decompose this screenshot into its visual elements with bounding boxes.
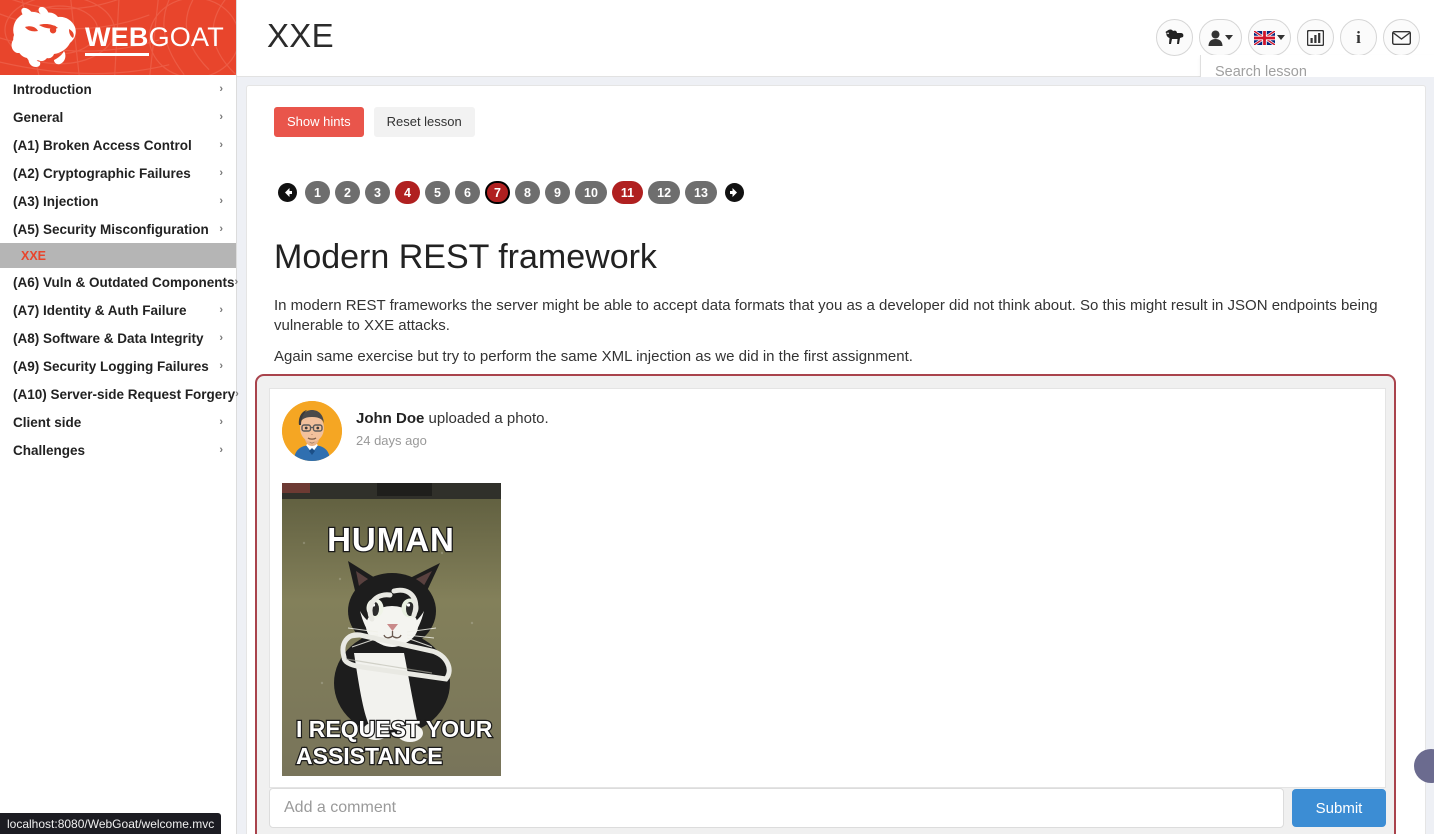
sidebar-item-label: (A5) Security Misconfiguration <box>13 222 219 237</box>
pagination-page-6[interactable]: 6 <box>455 181 480 204</box>
header-toolbar: i <box>1156 19 1420 56</box>
goat-icon-button[interactable] <box>1156 19 1193 56</box>
brand-goat: GOAT <box>149 22 224 52</box>
brand-header[interactable]: WEBGOAT <box>0 0 236 75</box>
sidebar-item-challenges[interactable]: Challenges› <box>0 436 236 464</box>
pagination-prev-button[interactable] <box>278 183 297 202</box>
sidebar-item-a9-security-logging-failures[interactable]: (A9) Security Logging Failures› <box>0 352 236 380</box>
lesson-pagination: 12345678910111213 <box>275 181 747 204</box>
flag-uk-icon <box>1254 31 1275 45</box>
chevron-right-icon: › <box>219 224 223 235</box>
lesson-content-card: Show hints Reset lesson 1234567891011121… <box>246 85 1426 834</box>
lesson-paragraph-2: Again same exercise but try to perform t… <box>274 347 1409 367</box>
comment-row: Submit <box>269 784 1386 832</box>
assignment-card: John Doe uploaded a photo. 24 days ago <box>255 374 1396 834</box>
arrow-left-icon <box>282 187 293 198</box>
main-content: Show hints Reset lesson 1234567891011121… <box>237 77 1434 834</box>
info-button[interactable]: i <box>1340 19 1377 56</box>
post-author: John Doe <box>356 410 424 427</box>
info-icon: i <box>1356 28 1361 48</box>
user-icon <box>1208 30 1223 46</box>
user-avatar-icon <box>282 401 342 461</box>
pagination-page-9[interactable]: 9 <box>545 181 570 204</box>
brand-web: WEB <box>85 22 149 56</box>
language-flag-button[interactable] <box>1248 19 1291 56</box>
status-bar-url: localhost:8080/WebGoat/welcome.mvc <box>7 817 214 831</box>
sidebar-item-label: (A9) Security Logging Failures <box>13 359 219 374</box>
arrow-right-icon <box>729 187 740 198</box>
sidebar-item-a8-software-data-integrity[interactable]: (A8) Software & Data Integrity› <box>0 324 236 352</box>
chevron-down-icon <box>1277 35 1285 40</box>
report-chart-button[interactable] <box>1297 19 1334 56</box>
sidebar-item-label: Challenges <box>13 443 219 458</box>
pagination-page-5[interactable]: 5 <box>425 181 450 204</box>
sidebar-item-label: Client side <box>13 415 219 430</box>
pagination-page-13[interactable]: 13 <box>685 181 717 204</box>
chevron-right-icon: › <box>219 445 223 456</box>
sidebar-item-a1-broken-access-control[interactable]: (A1) Broken Access Control› <box>0 131 236 159</box>
messages-button[interactable] <box>1383 19 1420 56</box>
sidebar: WEBGOAT Introduction›General›(A1) Broken… <box>0 0 237 834</box>
sidebar-item-xxe[interactable]: XXE <box>0 243 236 268</box>
post-meta: John Doe uploaded a photo. 24 days ago <box>356 401 549 448</box>
sidebar-item-label: XXE <box>21 249 223 263</box>
page-title: XXE <box>267 17 334 55</box>
chevron-right-icon: › <box>219 168 223 179</box>
chart-icon <box>1307 30 1324 46</box>
comment-input[interactable] <box>269 788 1284 828</box>
submit-button[interactable]: Submit <box>1292 789 1386 827</box>
goat-icon <box>1164 29 1185 46</box>
pagination-page-10[interactable]: 10 <box>575 181 607 204</box>
app-root: WEBGOAT Introduction›General›(A1) Broken… <box>0 0 1434 834</box>
sidebar-item-a7-identity-auth-failure[interactable]: (A7) Identity & Auth Failure› <box>0 296 236 324</box>
meme-bottom-text-2: ASSISTANCE <box>296 743 443 769</box>
pagination-page-1[interactable]: 1 <box>305 181 330 204</box>
chevron-right-icon: › <box>219 361 223 372</box>
sidebar-item-a2-cryptographic-failures[interactable]: (A2) Cryptographic Failures› <box>0 159 236 187</box>
pagination-page-3[interactable]: 3 <box>365 181 390 204</box>
sidebar-nav: Introduction›General›(A1) Broken Access … <box>0 75 236 464</box>
avatar <box>282 401 342 461</box>
goat-head-icon <box>9 7 81 69</box>
user-icon-button[interactable] <box>1199 19 1242 56</box>
sidebar-item-label: Introduction <box>13 82 219 97</box>
envelope-icon <box>1392 31 1411 45</box>
chevron-down-icon <box>1225 35 1233 40</box>
post-panel: John Doe uploaded a photo. 24 days ago <box>269 388 1386 788</box>
sidebar-item-label: (A10) Server-side Request Forgery <box>13 387 235 402</box>
sidebar-item-a5-security-misconfiguration[interactable]: (A5) Security Misconfiguration› <box>0 215 236 243</box>
chevron-right-icon: › <box>219 417 223 428</box>
lesson-title: Modern REST framework <box>274 238 657 277</box>
sidebar-item-client-side[interactable]: Client side› <box>0 408 236 436</box>
chevron-right-icon: › <box>219 333 223 344</box>
pagination-next-button[interactable] <box>725 183 744 202</box>
brand-text: WEBGOAT <box>85 22 224 53</box>
pagination-page-12[interactable]: 12 <box>648 181 680 204</box>
pagination-page-8[interactable]: 8 <box>515 181 540 204</box>
status-bar: localhost:8080/WebGoat/welcome.mvc <box>0 813 221 834</box>
chevron-right-icon: › <box>219 305 223 316</box>
chevron-right-icon: › <box>235 277 239 288</box>
chevron-right-icon: › <box>219 196 223 207</box>
show-hints-button[interactable]: Show hints <box>274 107 364 137</box>
post-timestamp: 24 days ago <box>356 433 549 448</box>
pagination-pills: 12345678910111213 <box>305 181 717 204</box>
pagination-page-4[interactable]: 4 <box>395 181 420 204</box>
pagination-page-2[interactable]: 2 <box>335 181 360 204</box>
post-action: uploaded a photo. <box>424 410 548 427</box>
reset-lesson-button[interactable]: Reset lesson <box>374 107 475 137</box>
chevron-right-icon: › <box>219 84 223 95</box>
sidebar-item-introduction[interactable]: Introduction› <box>0 75 236 103</box>
sidebar-item-label: (A6) Vuln & Outdated Components <box>13 275 235 290</box>
chevron-right-icon: › <box>235 389 239 400</box>
post-header: John Doe uploaded a photo. 24 days ago <box>282 401 549 461</box>
sidebar-item-general[interactable]: General› <box>0 103 236 131</box>
sidebar-item-a3-injection[interactable]: (A3) Injection› <box>0 187 236 215</box>
meme-top-text: HUMAN <box>327 521 455 558</box>
sidebar-item-a6-vuln-outdated-components[interactable]: (A6) Vuln & Outdated Components› <box>0 268 236 296</box>
lesson-controls: Show hints Reset lesson <box>274 107 475 137</box>
sidebar-item-label: (A3) Injection <box>13 194 219 209</box>
meme-bottom-text-1: I REQUEST YOUR <box>296 716 493 742</box>
sidebar-item-label: (A7) Identity & Auth Failure <box>13 303 219 318</box>
top-header: XXE <box>237 0 1434 77</box>
cat-meme-graphic: HUMAN I REQUEST YOUR ASSISTANCE <box>282 483 501 776</box>
lesson-paragraph-1: In modern REST frameworks the server mig… <box>274 296 1409 336</box>
sidebar-item-label: (A2) Cryptographic Failures <box>13 166 219 181</box>
chevron-right-icon: › <box>219 140 223 151</box>
pagination-page-7[interactable]: 7 <box>485 181 510 204</box>
sidebar-item-label: (A8) Software & Data Integrity <box>13 331 219 346</box>
sidebar-item-label: (A1) Broken Access Control <box>13 138 219 153</box>
pagination-page-11[interactable]: 11 <box>612 181 643 204</box>
chevron-right-icon: › <box>219 112 223 123</box>
sidebar-item-label: General <box>13 110 219 125</box>
post-headline: John Doe uploaded a photo. <box>356 410 549 427</box>
cat-meme-image: HUMAN I REQUEST YOUR ASSISTANCE <box>282 483 501 776</box>
sidebar-item-a10-server-side-request-forgery[interactable]: (A10) Server-side Request Forgery› <box>0 380 236 408</box>
